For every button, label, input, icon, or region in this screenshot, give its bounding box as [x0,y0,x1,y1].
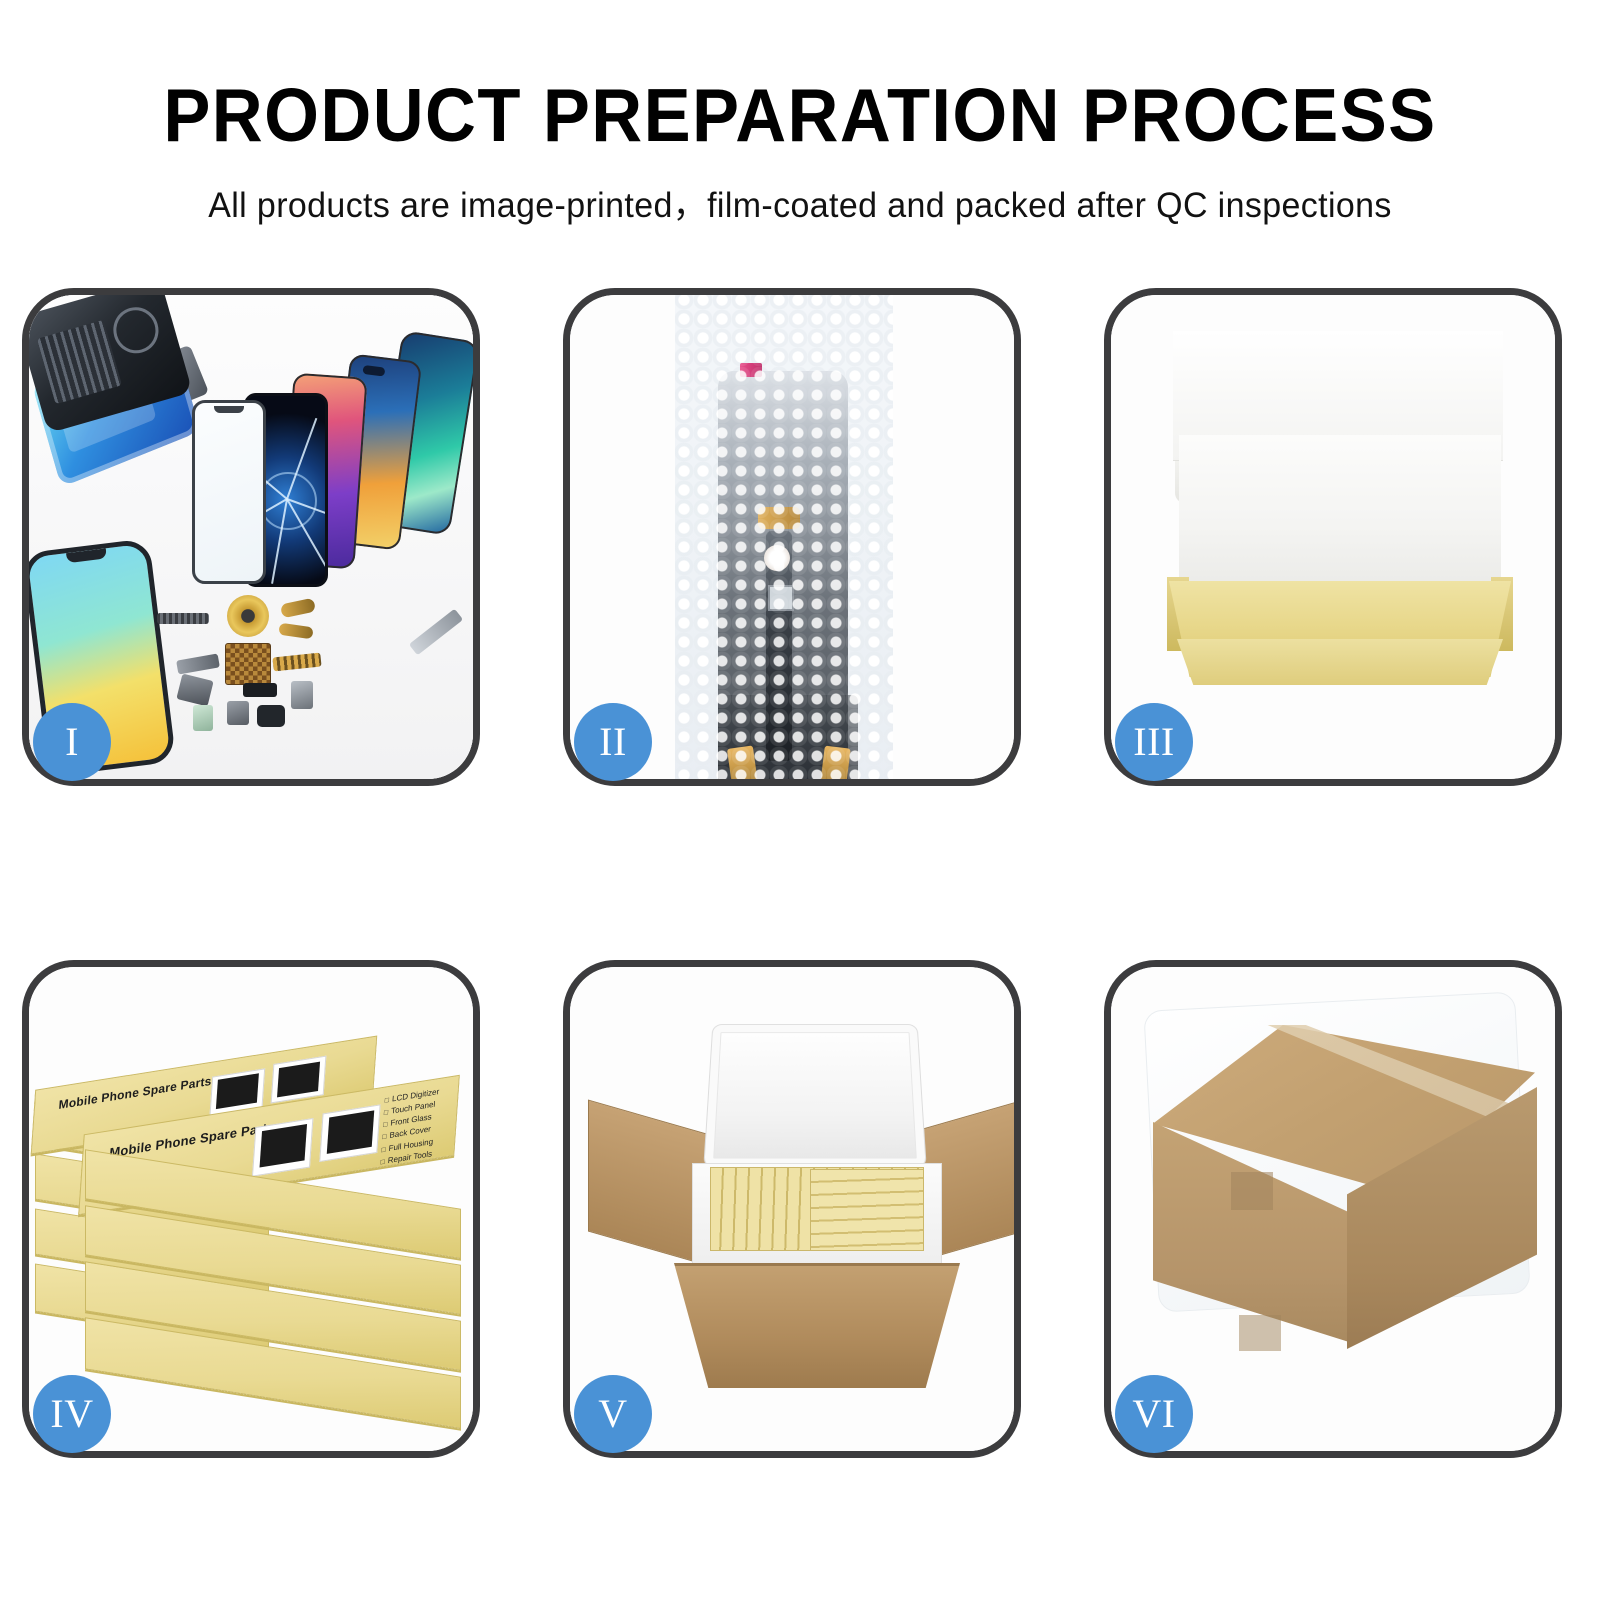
step-photo-open-mailer-box [1111,295,1555,779]
foam-lid-shape [703,1024,927,1168]
step-photo-bubble-wrapped-screen [570,295,1014,779]
notch-shape [214,406,244,413]
step-badge-5: V [574,1375,652,1453]
shield-can-part-shape [291,681,313,709]
flex-cable-part-shape [278,623,313,640]
speaker-grille-part-shape [157,613,209,624]
process-steps-grid: I II III [22,288,1578,1458]
wireless-charging-coil-shape [227,595,269,637]
step-panel-4[interactable]: Mobile Phone Spare Parts Mobile Phone Sp… [22,960,480,1458]
retail-box-product-photo [252,1118,314,1177]
carton-tape-tab-shape [1239,1315,1281,1351]
step-badge-2: II [574,703,652,781]
punch-hole-camera-shape [362,365,385,377]
retail-box-checklist: LCD Digitizer Touch Panel Front Glass Ba… [380,1086,439,1168]
parts-collage-illustration [29,295,473,779]
earpiece-speaker-shape [764,545,790,571]
step-badge-4: IV [33,1375,111,1453]
carton-body-shape [674,1263,960,1388]
gold-connector-right-shape [819,746,850,779]
mailer-front-face-shape [1177,639,1503,685]
page-subtitle: All products are image-printed，film-coat… [24,153,1576,228]
page-header: PRODUCT PREPARATION PROCESS All products… [0,0,1600,228]
camera-module-shape [768,585,794,611]
pink-label-tab-shape [740,363,762,377]
step-photo-retail-box-stack: Mobile Phone Spare Parts Mobile Phone Sp… [29,967,473,1451]
step-photo-parts-collage [29,295,473,779]
step-badge-3: III [1115,703,1193,781]
bracket-part-shape [176,674,213,707]
speaker-part-shape [257,705,285,727]
vibration-motor-part-shape [243,683,277,697]
flex-cable-part-shape [280,598,316,619]
connector-part-shape [176,653,220,674]
retail-box-brand-label: Mobile Phone Spare Parts [58,1074,212,1112]
flex-connector-shape [758,507,800,529]
camera-module-part-shape [227,701,249,725]
step-panel-3[interactable]: III [1104,288,1562,786]
page-title: PRODUCT PREPARATION PROCESS [48,0,1552,153]
carton-tape-tab-shape [1231,1172,1273,1210]
repair-tool-shape [409,609,463,656]
step-badge-1: I [33,703,111,781]
notch-shape [66,548,107,563]
step-panel-1[interactable]: I [22,288,480,786]
sim-tray-part-shape [193,705,213,731]
retail-box-product-photo [320,1104,382,1163]
front-glass-panel-shape [192,400,266,584]
ic-chip-part-shape [225,643,271,685]
ribbon-cable-part-shape [272,653,321,672]
step-panel-6[interactable]: VI [1104,960,1562,1458]
step-badge-6: VI [1115,1375,1193,1453]
mailer-inner-card-shape [1179,435,1501,587]
step-photo-foam-cooler-in-carton [570,967,1014,1451]
step-panel-2[interactable]: II [563,288,1021,786]
step-panel-5[interactable]: V [563,960,1021,1458]
gold-boxes-row-shape [810,1169,924,1251]
step-photo-sealed-carton [1111,967,1555,1451]
